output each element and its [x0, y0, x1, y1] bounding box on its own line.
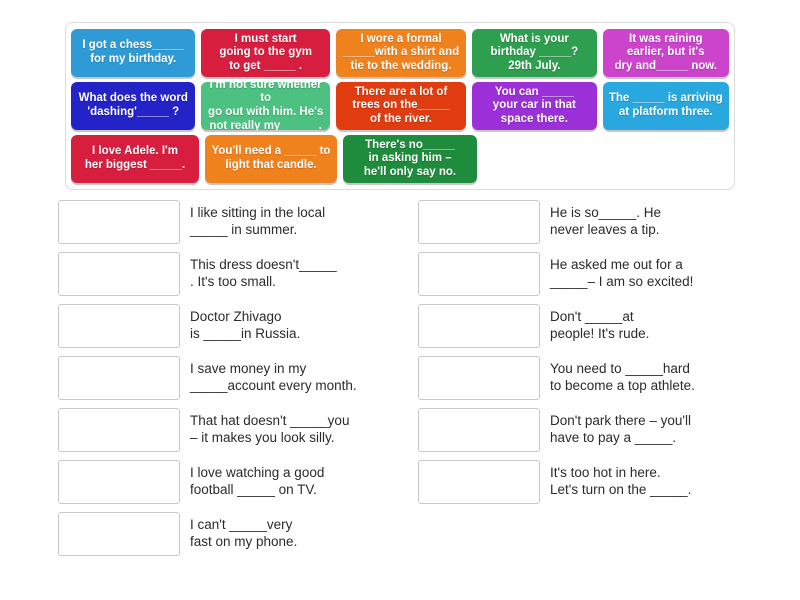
tile-line: birthday _____?	[478, 46, 590, 60]
tile-line: going to the gym	[207, 46, 323, 60]
dropzone-left-3[interactable]	[58, 304, 180, 348]
prompt-line: people! It's rude.	[550, 325, 649, 342]
prompt-line: I save money in my	[190, 360, 357, 377]
tile-line: What does the word	[77, 92, 189, 106]
prompt-line: I can't _____very	[190, 516, 297, 533]
prompt-left-4: I save money in my _____account every mo…	[190, 356, 357, 395]
dropzone-right-5[interactable]	[418, 408, 540, 452]
tile-chess[interactable]: I got a chess_____for my birthday.	[71, 29, 195, 77]
tile-park-car[interactable]: You can _____your car in thatspace there…	[472, 82, 596, 130]
prompt-left-7: I can't _____very fast on my phone.	[190, 512, 297, 551]
tile-line: tie to the wedding.	[342, 60, 460, 74]
prompt-line: _____ in summer.	[190, 221, 325, 238]
prompt-right-3: Don't _____at people! It's rude.	[550, 304, 649, 343]
tile-line: earlier, but it's	[609, 46, 723, 60]
dropzone-right-6[interactable]	[418, 460, 540, 504]
tile-line: I got a chess_____	[77, 39, 189, 53]
tile-line: trees on the_____	[342, 99, 460, 113]
prompt-left-5: That hat doesn't _____you – it makes you…	[190, 408, 349, 447]
prompt-line: You need to _____hard	[550, 360, 695, 377]
prompt-line: It's too hot in here.	[550, 464, 691, 481]
prompt-line: This dress doesn't_____	[190, 256, 337, 273]
tile-formal[interactable]: I wore a formal_____with a shirt andtie …	[336, 29, 466, 77]
tile-line: I love Adele. I'm	[77, 145, 193, 159]
match-row: Don't park there – you'll have to pay a …	[418, 408, 720, 460]
prompt-line: _____account every month.	[190, 377, 357, 394]
dropzone-left-4[interactable]	[58, 356, 180, 400]
tile-dashing[interactable]: What does the word'dashing'_____ ?	[71, 82, 195, 130]
match-row: He asked me out for a _____– I am so exc…	[418, 252, 720, 304]
prompt-line: fast on my phone.	[190, 533, 297, 550]
right-column: He is so_____. He never leaves a tip. He…	[360, 200, 720, 564]
match-columns: I like sitting in the local _____ in sum…	[0, 200, 800, 564]
dropzone-right-3[interactable]	[418, 304, 540, 348]
match-row: It's too hot in here. Let's turn on the …	[418, 460, 720, 512]
tile-not-my-type[interactable]: I'm not sure whether togo out with him. …	[201, 82, 329, 130]
tile-line: What is your	[478, 33, 590, 47]
tile-raining[interactable]: It was rainingearlier, but it'sdry and__…	[603, 29, 729, 77]
tile-line: 'dashing'_____ ?	[77, 106, 189, 120]
tile-line: I'm not sure whether to	[207, 82, 323, 106]
dropzone-left-7[interactable]	[58, 512, 180, 556]
prompt-line: have to pay a _____.	[550, 429, 691, 446]
tile-line: 29th July.	[478, 60, 590, 74]
tile-no-point[interactable]: There's no_____in asking him –he'll only…	[343, 135, 477, 183]
prompt-line: Doctor Zhivago	[190, 308, 300, 325]
match-row: Don't _____at people! It's rude.	[418, 304, 720, 356]
prompt-right-6: It's too hot in here. Let's turn on the …	[550, 460, 691, 499]
tile-line: There's no_____	[349, 139, 471, 153]
dropzone-left-5[interactable]	[58, 408, 180, 452]
match-row: You need to _____hard to become a top at…	[418, 356, 720, 408]
tile-trees-river[interactable]: There are a lot oftrees on the_____of th…	[336, 82, 466, 130]
tile-line: of the river.	[342, 113, 460, 127]
tile-candle[interactable]: You'll need a _____ tolight that candle.	[205, 135, 337, 183]
match-row: That hat doesn't _____you – it makes you…	[58, 408, 360, 460]
tile-line: dry and_____ now.	[609, 60, 723, 74]
tile-line: her biggest _____.	[77, 159, 193, 173]
prompt-line: Don't park there – you'll	[550, 412, 691, 429]
prompt-right-4: You need to _____hard to become a top at…	[550, 356, 695, 395]
tile-line: There are a lot of	[342, 86, 460, 100]
tile-adele[interactable]: I love Adele. I'mher biggest _____.	[71, 135, 199, 183]
dropzone-right-1[interactable]	[418, 200, 540, 244]
tile-line: he'll only say no.	[349, 166, 471, 180]
tile-gym[interactable]: I must startgoing to the gymto get _____…	[201, 29, 329, 77]
tile-line: The _____ is arriving	[609, 92, 723, 106]
tile-line: I must start	[207, 33, 323, 47]
prompt-line: He is so_____. He	[550, 204, 661, 221]
tile-row-1: I got a chess_____for my birthday. I mus…	[71, 29, 729, 77]
match-row: I can't _____very fast on my phone.	[58, 512, 360, 564]
tile-line: not really my _____ .	[207, 120, 323, 130]
prompt-line: I like sitting in the local	[190, 204, 325, 221]
prompt-left-3: Doctor Zhivago is _____in Russia.	[190, 304, 300, 343]
tile-line: You can _____	[478, 86, 590, 100]
tile-line: to get _____ .	[207, 60, 323, 74]
prompt-left-2: This dress doesn't_____ . It's too small…	[190, 252, 337, 291]
prompt-line: He asked me out for a	[550, 256, 693, 273]
prompt-line: Let's turn on the _____.	[550, 481, 691, 498]
match-row: He is so_____. He never leaves a tip.	[418, 200, 720, 252]
prompt-line: That hat doesn't _____you	[190, 412, 349, 429]
dropzone-right-4[interactable]	[418, 356, 540, 400]
prompt-line: – it makes you look silly.	[190, 429, 349, 446]
dropzone-left-6[interactable]	[58, 460, 180, 504]
tile-line: It was raining	[609, 33, 723, 47]
tile-line: in asking him –	[349, 152, 471, 166]
tile-platform[interactable]: The _____ is arrivingat platform three.	[603, 82, 729, 130]
prompt-line: _____– I am so excited!	[550, 273, 693, 290]
tile-line: light that candle.	[211, 159, 331, 173]
prompt-line: football _____ on TV.	[190, 481, 324, 498]
tile-tray: I got a chess_____for my birthday. I mus…	[65, 22, 735, 190]
tile-line: go out with him. He's	[207, 106, 323, 120]
tile-line: at platform three.	[609, 106, 723, 120]
tile-row-2: What does the word'dashing'_____ ? I'm n…	[71, 82, 729, 130]
tile-line: for my birthday.	[77, 53, 189, 67]
prompt-line: . It's too small.	[190, 273, 337, 290]
activity-page: I got a chess_____for my birthday. I mus…	[0, 0, 800, 600]
prompt-right-1: He is so_____. He never leaves a tip.	[550, 200, 661, 239]
tile-line: your car in that	[478, 99, 590, 113]
match-row: I like sitting in the local _____ in sum…	[58, 200, 360, 252]
match-row: I save money in my _____account every mo…	[58, 356, 360, 408]
prompt-line: I love watching a good	[190, 464, 324, 481]
dropzone-left-2[interactable]	[58, 252, 180, 296]
dropzone-left-1[interactable]	[58, 200, 180, 244]
prompt-left-6: I love watching a good football _____ on…	[190, 460, 324, 499]
match-row: This dress doesn't_____ . It's too small…	[58, 252, 360, 304]
tile-line: You'll need a _____ to	[211, 145, 331, 159]
tile-line: I wore a formal	[342, 33, 460, 47]
tile-row-3: I love Adele. I'mher biggest _____. You'…	[71, 135, 729, 183]
dropzone-right-2[interactable]	[418, 252, 540, 296]
prompt-line: is _____in Russia.	[190, 325, 300, 342]
prompt-line: never leaves a tip.	[550, 221, 661, 238]
prompt-left-1: I like sitting in the local _____ in sum…	[190, 200, 325, 239]
tile-line: space there.	[478, 113, 590, 127]
prompt-line: Don't _____at	[550, 308, 649, 325]
match-row: Doctor Zhivago is _____in Russia.	[58, 304, 360, 356]
match-row: I love watching a good football _____ on…	[58, 460, 360, 512]
left-column: I like sitting in the local _____ in sum…	[0, 200, 360, 564]
tile-birthday[interactable]: What is yourbirthday _____?29th July.	[472, 29, 596, 77]
prompt-right-5: Don't park there – you'll have to pay a …	[550, 408, 691, 447]
prompt-right-2: He asked me out for a _____– I am so exc…	[550, 252, 693, 291]
tile-line: _____with a shirt and	[342, 46, 460, 60]
prompt-line: to become a top athlete.	[550, 377, 695, 394]
